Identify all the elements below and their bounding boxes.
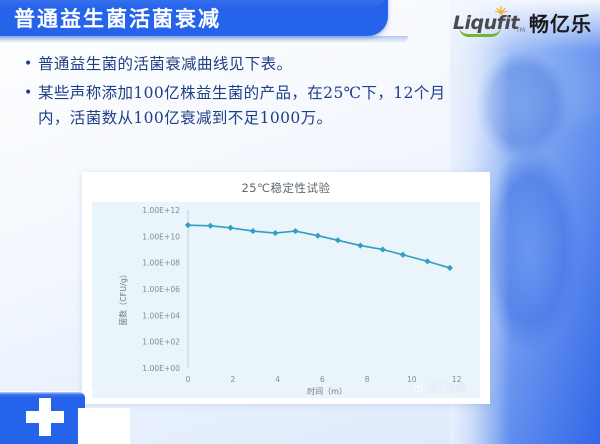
- data-point-marker: [400, 252, 406, 258]
- x-axis-title: 时间（m）: [307, 386, 347, 396]
- list-item: • 普通益生菌的活菌衰减曲线见下表。: [24, 52, 472, 77]
- y-tick-label: 1.00E+10: [142, 232, 180, 241]
- y-axis-tick-labels: 1.00E+001.00E+021.00E+041.00E+061.00E+08…: [142, 206, 180, 373]
- x-tick-label: 2: [230, 375, 235, 384]
- series-markers: [185, 222, 453, 271]
- line-chart-svg: 1.00E+001.00E+021.00E+041.00E+061.00E+08…: [92, 202, 480, 398]
- list-item: • 某些声称添加100亿株益生菌的产品，在25℃下，12个月内，活菌数从100亿…: [24, 81, 472, 131]
- data-point-marker: [227, 225, 233, 231]
- footer-highlight-line: [0, 391, 96, 394]
- bullet-marker-icon: •: [24, 81, 38, 105]
- green-swoosh-icon: [459, 27, 501, 37]
- data-point-marker: [272, 230, 278, 236]
- series-line-活菌数: [188, 225, 450, 268]
- page-title: 普通益生菌活菌衰减: [14, 3, 221, 33]
- bullet-text: 某些声称添加100亿株益生菌的产品，在25℃下，12个月内，活菌数从100亿衰减…: [38, 81, 472, 131]
- chart-title: 25℃稳定性试验: [82, 172, 490, 196]
- y-tick-label: 1.00E+12: [142, 206, 180, 215]
- bullet-list: • 普通益生菌的活菌衰减曲线见下表。 • 某些声称添加100亿株益生菌的产品，在…: [24, 52, 472, 135]
- data-point-marker: [250, 228, 256, 234]
- y-tick-label: 1.00E+00: [142, 364, 180, 373]
- y-tick-label: 1.00E+08: [142, 259, 180, 268]
- liqufit-logomark: Liqufit TM: [453, 12, 522, 34]
- watermark: 紫丁健颜: [411, 381, 466, 394]
- data-point-marker: [335, 237, 341, 243]
- trademark-mark: TM: [516, 27, 525, 34]
- chart-card: 25℃稳定性试验 1.00E+001.00E+021.00E+041.00E+0…: [82, 172, 490, 404]
- sun-burst-icon: [494, 5, 508, 19]
- brand-logo: Liqufit TM 畅亿乐: [453, 8, 592, 37]
- cat-logo-icon: [411, 382, 425, 394]
- bullet-marker-icon: •: [24, 52, 38, 76]
- x-tick-label: 8: [365, 375, 370, 384]
- x-tick-label: 4: [275, 375, 280, 384]
- data-point-marker: [292, 228, 298, 234]
- x-tick-label: 6: [320, 375, 325, 384]
- chart-plot-area: 1.00E+001.00E+021.00E+041.00E+061.00E+08…: [92, 202, 480, 398]
- data-point-marker: [380, 246, 386, 252]
- slide-canvas: 普通益生菌活菌衰减 Liqufit TM 畅亿乐 • 普通益生菌的活菌衰减: [0, 0, 600, 444]
- x-tick-label: 0: [186, 375, 191, 384]
- y-tick-label: 1.00E+04: [142, 311, 180, 320]
- data-point-marker: [447, 265, 453, 271]
- y-axis-title: 菌数（CFU/g）: [118, 270, 128, 326]
- data-point-marker: [207, 223, 213, 229]
- header-underline: [0, 36, 408, 43]
- data-point-marker: [185, 222, 191, 228]
- data-point-marker: [315, 233, 321, 239]
- footer-white-tab: [78, 408, 130, 444]
- data-point-marker: [357, 242, 363, 248]
- cross-icon: [26, 398, 64, 436]
- data-point-marker: [424, 258, 430, 264]
- bullet-text: 普通益生菌的活菌衰减曲线见下表。: [38, 52, 292, 77]
- watermark-text: 紫丁健颜: [428, 381, 466, 394]
- brand-name-cn: 畅亿乐: [529, 8, 592, 37]
- y-tick-label: 1.00E+06: [142, 285, 180, 294]
- y-tick-label: 1.00E+02: [142, 338, 180, 347]
